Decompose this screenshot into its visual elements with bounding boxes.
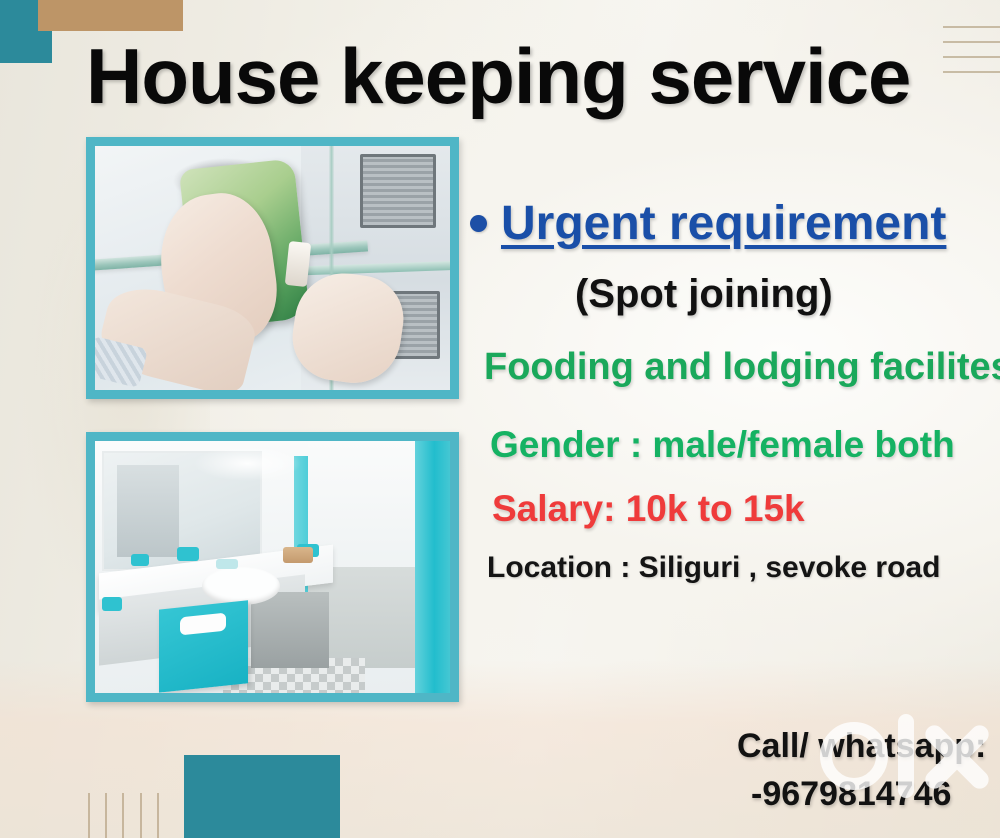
tan-bar-top-left [38, 0, 183, 31]
location-text: Location : Siliguri , sevoke road [487, 551, 940, 585]
housekeeping-job-poster: House keeping service [0, 0, 1000, 838]
bullet-dot-icon [470, 215, 487, 232]
olx-watermark-icon [820, 706, 995, 806]
urgent-requirement-bullet-row: Urgent requirement [470, 196, 946, 251]
gloved-hand-cleaning-glass-photo [86, 137, 459, 399]
horizontal-lines-top-right-icon [943, 26, 1000, 90]
vertical-lines-bottom-left-icon [88, 793, 168, 838]
bathroom-interior-photo [86, 432, 459, 702]
salary-text: Salary: 10k to 15k [492, 488, 805, 530]
spot-joining-text: (Spot joining) [575, 272, 833, 317]
gender-text: Gender : male/female both [490, 424, 955, 466]
fooding-lodging-text: Fooding and lodging facilites [484, 346, 1000, 389]
teal-square-bottom-left [184, 755, 340, 838]
urgent-requirement-heading: Urgent requirement [501, 196, 946, 251]
page-title: House keeping service [86, 36, 910, 116]
